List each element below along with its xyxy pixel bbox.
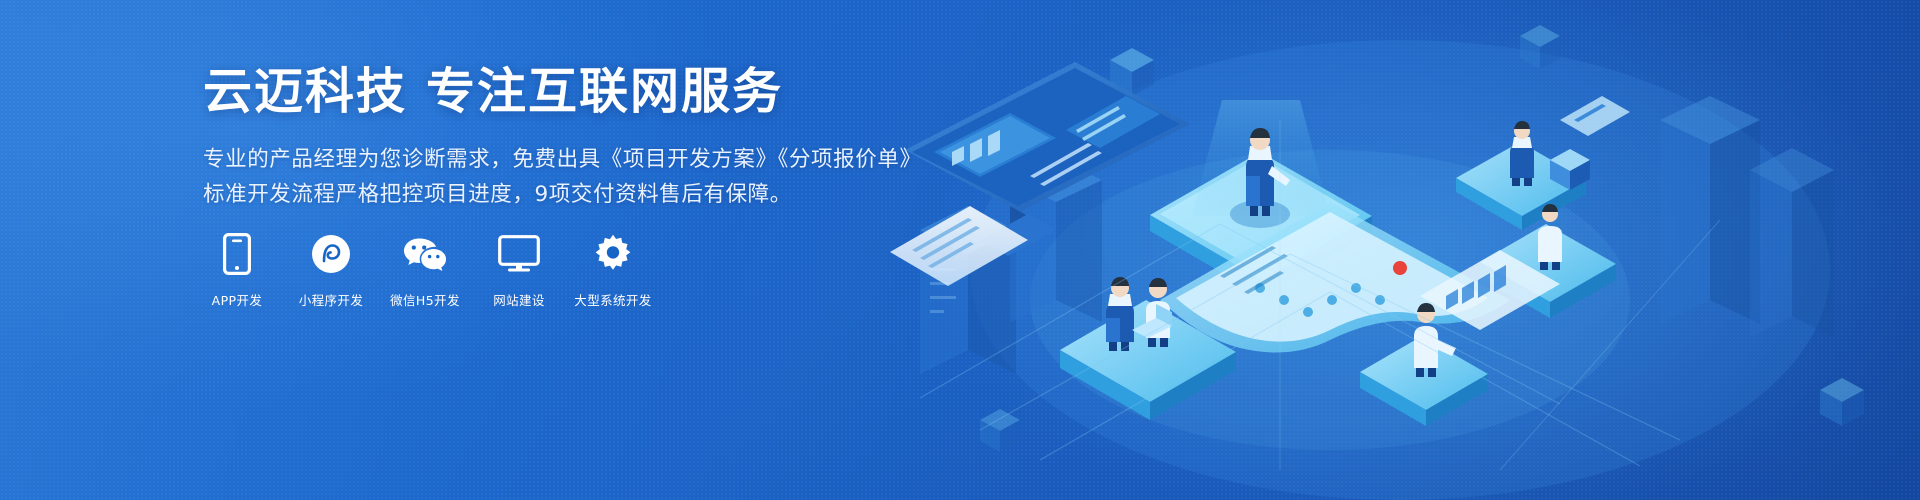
subtitle-line-2: 标准开发流程严格把控项目进度，9项交付资料售后有保障。 [203, 178, 923, 213]
subtitle-line-1: 专业的产品经理为您诊断需求，免费出具《项目开发方案》《分项报价单》 [203, 147, 922, 172]
wechat-icon [402, 232, 448, 276]
hero-banner: 云迈科技 专注互联网服务 专业的产品经理为您诊断需求，免费出具《项目开发方案》《… [0, 0, 1920, 500]
service-label-system: 大型系统开发 [574, 290, 651, 309]
service-label-website: 网站建设 [493, 290, 545, 309]
service-label-wechat: 微信H5开发 [390, 290, 460, 309]
page-title: 云迈科技 专注互联网服务 [203, 64, 923, 120]
service-item-website[interactable]: 网站建设 [482, 232, 556, 309]
monitor-icon [498, 232, 540, 276]
isometric-illustration [860, 0, 1920, 500]
service-item-wechat[interactable]: 微信H5开发 [388, 232, 462, 309]
service-item-app[interactable]: APP开发 [200, 232, 274, 309]
mobile-phone-icon [223, 232, 251, 276]
service-item-system[interactable]: 大型系统开发 [576, 232, 650, 309]
banner-copy: 云迈科技 专注互联网服务 专业的产品经理为您诊断需求，免费出具《项目开发方案》《… [203, 64, 923, 213]
gear-icon [593, 232, 633, 276]
service-icon-list: APP开发 小程序开发 微信 [200, 232, 650, 309]
service-label-app: APP开发 [212, 290, 263, 309]
mini-program-icon [311, 232, 351, 276]
service-label-miniprogram: 小程序开发 [299, 290, 364, 309]
banner-subtitle: 专业的产品经理为您诊断需求，免费出具《项目开发方案》《分项报价单》 标准开发流程… [203, 143, 923, 213]
service-item-miniprogram[interactable]: 小程序开发 [294, 232, 368, 309]
